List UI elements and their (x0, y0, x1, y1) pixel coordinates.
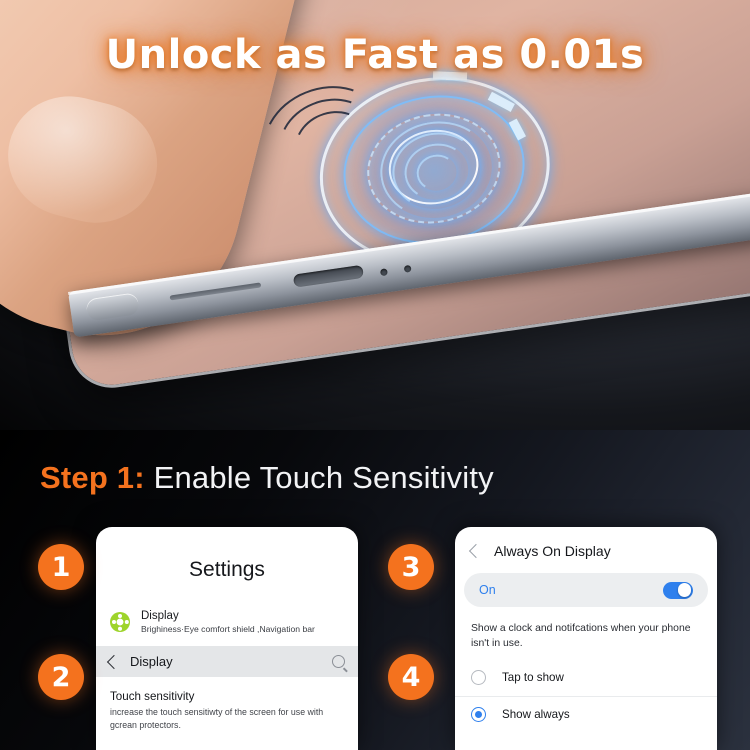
settings-item-subtitle: Brighiness·Eye comfort shield ,Navigatio… (141, 624, 315, 635)
aod-title: Always On Display (494, 543, 611, 559)
settings-screenshot-panel: Settings Display Brighiness·Eye comfort … (96, 527, 358, 750)
usb-c-port (293, 265, 364, 288)
aod-toggle-row[interactable]: On (464, 573, 708, 607)
display-header-label: Display (130, 654, 321, 669)
settings-item-display[interactable]: Display Brighiness·Eye comfort shield ,N… (96, 609, 358, 635)
microphone-hole (404, 265, 412, 273)
display-icon (110, 612, 130, 632)
speaker-grille (170, 282, 262, 300)
step-badge-1: 1 (38, 544, 84, 590)
touch-sensitivity-block[interactable]: Touch sensitivity increase the touch sen… (96, 677, 358, 732)
aod-toggle-switch[interactable] (663, 582, 693, 599)
display-header-bar: Display (96, 646, 358, 677)
aod-option-tap-to-show[interactable]: Tap to show (455, 660, 717, 696)
step-number-label: Step 1: (40, 460, 145, 495)
settings-item-title: Display (141, 609, 315, 623)
step-badge-4: 4 (388, 654, 434, 700)
step-badge-3: 3 (388, 544, 434, 590)
step-badge-2: 2 (38, 654, 84, 700)
aod-option-label: Show always (502, 708, 570, 721)
step-heading: Step 1: Enable Touch Sensitivity (40, 460, 494, 496)
aod-option-label: Tap to show (502, 671, 564, 684)
radio-button[interactable] (471, 670, 486, 685)
aod-description: Show a clock and notifcations when your … (455, 607, 717, 652)
aod-option-show-always[interactable]: Show always (455, 696, 717, 733)
aod-header: Always On Display (455, 527, 717, 559)
touch-sensitivity-description: increase the touch sensitiwty of the scr… (110, 706, 344, 732)
search-icon[interactable] (332, 655, 345, 668)
back-chevron-icon[interactable] (469, 544, 483, 558)
settings-page-title: Settings (96, 558, 358, 582)
step-title: Enable Touch Sensitivity (154, 460, 494, 495)
touch-sensitivity-title: Touch sensitivity (110, 690, 344, 703)
always-on-display-panel: Always On Display On Show a clock and no… (455, 527, 717, 750)
fingertip-highlight (0, 83, 170, 236)
hero-section: Unlock as Fast as 0.01s (0, 0, 750, 445)
product-marketing-image: Unlock as Fast as 0.01s Step 1: Enable T… (0, 0, 750, 750)
microphone-hole (380, 268, 388, 276)
aod-toggle-label: On (479, 583, 496, 597)
hero-title: Unlock as Fast as 0.01s (0, 32, 750, 78)
back-chevron-icon[interactable] (107, 655, 121, 669)
side-button (85, 292, 140, 321)
radio-button-selected[interactable] (471, 707, 486, 722)
